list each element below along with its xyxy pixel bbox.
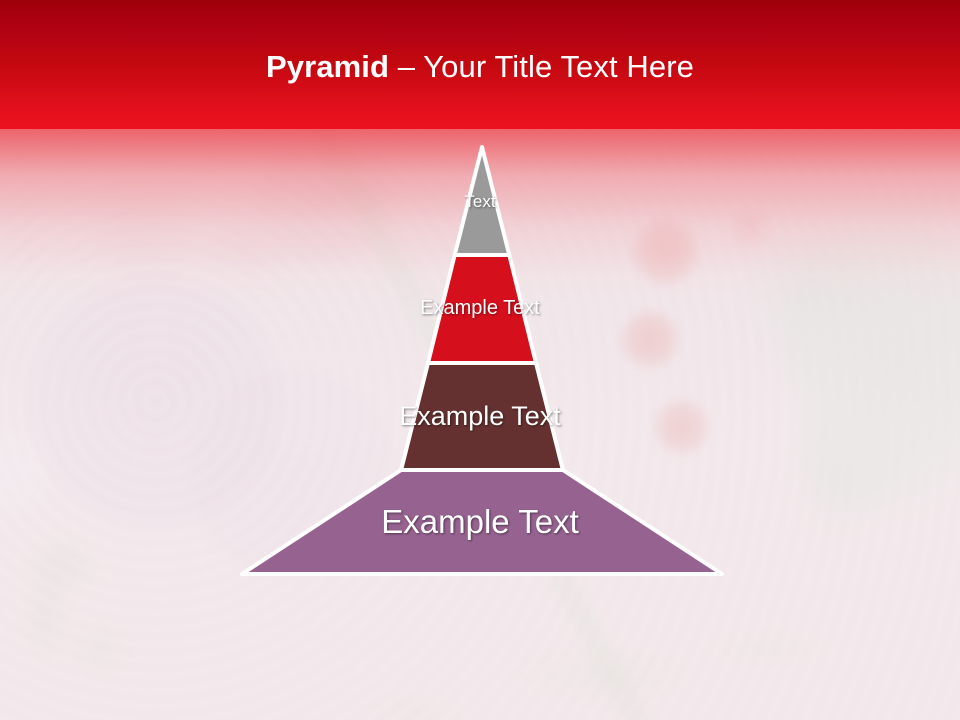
pyramid-tier-2[interactable] xyxy=(428,255,536,363)
pyramid-tiers xyxy=(242,147,722,574)
pyramid-tier-3[interactable] xyxy=(401,363,563,470)
pyramid-tier-4-base[interactable] xyxy=(242,470,722,574)
pyramid-diagram xyxy=(0,0,960,720)
pyramid-tier-1-top[interactable] xyxy=(455,147,510,255)
slide-canvas: Pyramid – Your Title Text Here Text Exam… xyxy=(0,0,960,720)
